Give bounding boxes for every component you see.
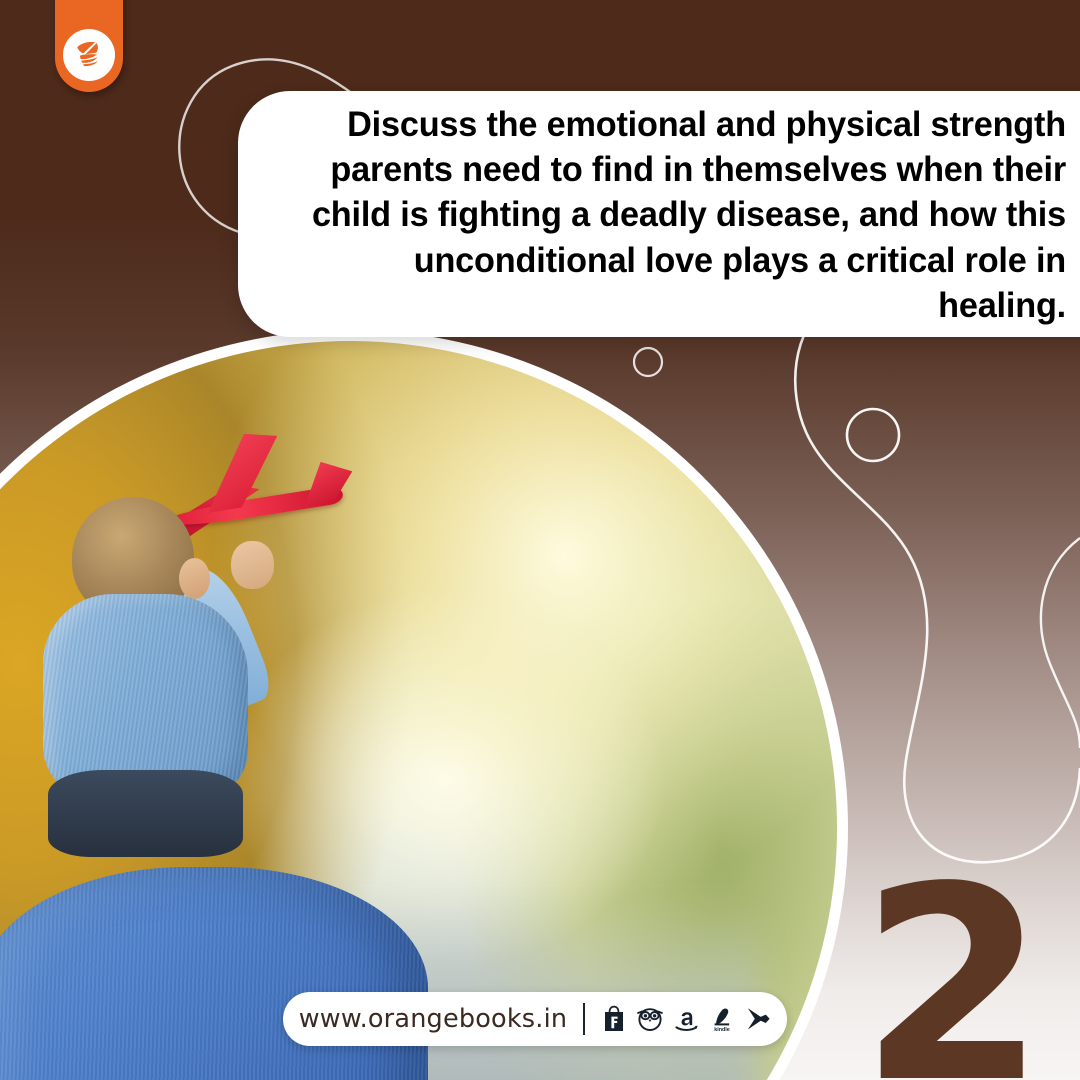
large-ring-icon xyxy=(847,409,899,461)
flipkart-icon[interactable] xyxy=(601,1005,627,1033)
store-icon-group: kindle xyxy=(601,1005,771,1033)
headline-card: Discuss the emotional and physical stren… xyxy=(238,91,1080,337)
kindle-icon[interactable]: kindle xyxy=(710,1005,734,1033)
child-shorts xyxy=(48,770,243,858)
brand-logo[interactable] xyxy=(55,0,123,92)
slide-number: 2 xyxy=(860,852,1046,1080)
small-ring-icon xyxy=(634,348,662,376)
photo-circle-frame xyxy=(0,330,848,1080)
social-post-canvas: Discuss the emotional and physical stren… xyxy=(0,0,1080,1080)
hero-photo xyxy=(0,341,837,1080)
google-play-icon[interactable] xyxy=(743,1006,771,1032)
right-edge-squiggle-line xyxy=(1041,538,1080,748)
child-denim-shirt xyxy=(43,594,248,799)
website-pill[interactable]: www.orangebooks.in xyxy=(283,992,787,1046)
open-book-logo-icon xyxy=(71,37,107,73)
bookswagon-owl-icon[interactable] xyxy=(636,1006,664,1032)
child-ear xyxy=(179,558,210,599)
svg-text:kindle: kindle xyxy=(714,1027,730,1033)
website-url[interactable]: www.orangebooks.in xyxy=(299,1004,567,1034)
father-blue-shirt xyxy=(0,867,428,1080)
amazon-icon[interactable] xyxy=(673,1006,701,1032)
logo-circle xyxy=(63,29,115,81)
headline-text: Discuss the emotional and physical stren… xyxy=(309,102,1066,327)
pill-divider xyxy=(583,1003,585,1035)
child-hand xyxy=(231,541,274,590)
